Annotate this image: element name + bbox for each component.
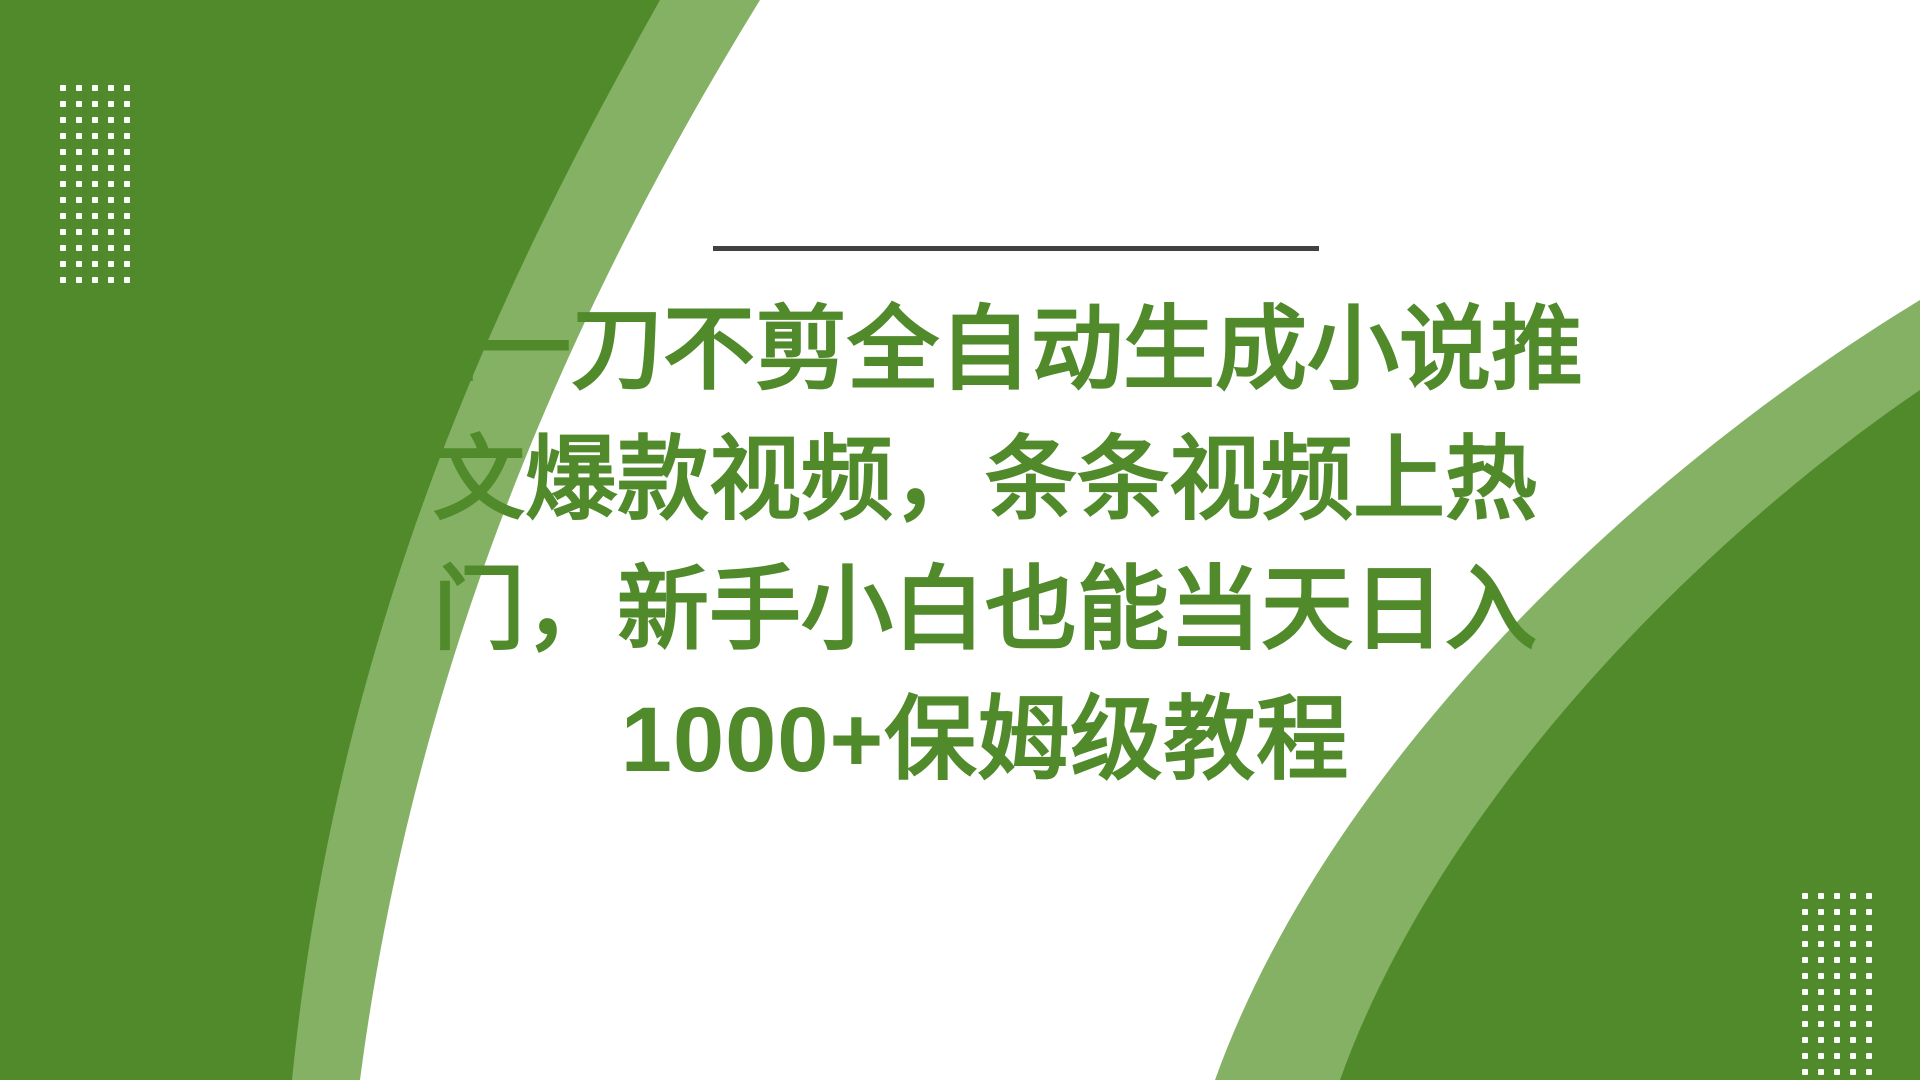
dot [92, 117, 98, 123]
dot [1850, 957, 1856, 963]
dot [92, 165, 98, 171]
dot [124, 117, 130, 123]
dot [60, 85, 66, 91]
dot [108, 133, 114, 139]
dot [1802, 957, 1808, 963]
dot [1850, 1069, 1856, 1075]
title-line-3: 门，新手小白也能当天日入 [240, 545, 1730, 675]
dot [1834, 1069, 1840, 1075]
dot [1802, 893, 1808, 899]
dot [124, 181, 130, 187]
dot [92, 149, 98, 155]
title-line-1: AI一刀不剪全自动生成小说推 [240, 285, 1730, 415]
dot [1818, 941, 1824, 947]
dot [60, 149, 66, 155]
dot [1834, 941, 1840, 947]
dot [1802, 1037, 1808, 1043]
dot [1818, 1021, 1824, 1027]
dot [60, 197, 66, 203]
dot [124, 245, 130, 251]
dot [108, 213, 114, 219]
dot-grid-left [60, 85, 140, 293]
dot [108, 261, 114, 267]
dot [60, 229, 66, 235]
dot [1818, 1005, 1824, 1011]
dot [60, 261, 66, 267]
dot [60, 133, 66, 139]
dot [1850, 941, 1856, 947]
dot [1834, 957, 1840, 963]
dot [1802, 973, 1808, 979]
title-line-2: 文爆款视频，条条视频上热 [240, 415, 1730, 545]
dot [1834, 1021, 1840, 1027]
dot [1866, 1037, 1872, 1043]
dot [92, 261, 98, 267]
dot [108, 117, 114, 123]
dot [1802, 941, 1808, 947]
dot [76, 117, 82, 123]
dot [1818, 1053, 1824, 1059]
dot [1818, 1037, 1824, 1043]
dot [1866, 1021, 1872, 1027]
dot [76, 165, 82, 171]
dot [76, 213, 82, 219]
dot [92, 197, 98, 203]
dot [1866, 957, 1872, 963]
dot [124, 213, 130, 219]
dot [1866, 941, 1872, 947]
dot [1802, 909, 1808, 915]
dot [1850, 1053, 1856, 1059]
dot [1818, 973, 1824, 979]
dot [1834, 1037, 1840, 1043]
dot [1850, 893, 1856, 899]
dot [60, 245, 66, 251]
dot [92, 245, 98, 251]
dot [1818, 989, 1824, 995]
page-title: AI一刀不剪全自动生成小说推 文爆款视频，条条视频上热 门，新手小白也能当天日入… [240, 285, 1730, 805]
dot [1834, 925, 1840, 931]
dot [1802, 1005, 1808, 1011]
dot [76, 197, 82, 203]
dot [1850, 1005, 1856, 1011]
dot [1818, 893, 1824, 899]
dot [1850, 989, 1856, 995]
dot [1850, 909, 1856, 915]
dot [92, 277, 98, 283]
dot [124, 165, 130, 171]
dot [92, 213, 98, 219]
dot [124, 277, 130, 283]
dot [108, 101, 114, 107]
dot [1850, 973, 1856, 979]
dot [124, 197, 130, 203]
dot [1802, 1069, 1808, 1075]
dot [76, 277, 82, 283]
dot [1818, 1069, 1824, 1075]
dot [76, 149, 82, 155]
dot [1834, 1005, 1840, 1011]
dot [1834, 989, 1840, 995]
dot [1834, 893, 1840, 899]
dot [108, 277, 114, 283]
dot [76, 101, 82, 107]
dot [76, 181, 82, 187]
dot [124, 229, 130, 235]
dot [1866, 1069, 1872, 1075]
dot [60, 101, 66, 107]
dot [1834, 973, 1840, 979]
dot [1866, 925, 1872, 931]
dot [124, 85, 130, 91]
dot [124, 149, 130, 155]
dot [92, 181, 98, 187]
dot [1866, 973, 1872, 979]
dot [92, 85, 98, 91]
dot [60, 181, 66, 187]
title-divider [713, 246, 1319, 251]
dot [1802, 1021, 1808, 1027]
dot [1850, 1037, 1856, 1043]
dot [1850, 925, 1856, 931]
dot [108, 165, 114, 171]
dot [108, 181, 114, 187]
dot [1802, 925, 1808, 931]
dot [1818, 925, 1824, 931]
dot [92, 229, 98, 235]
dot [60, 213, 66, 219]
dot [60, 165, 66, 171]
dot [76, 261, 82, 267]
dot-grid-right [1802, 893, 1882, 1080]
dot [1834, 909, 1840, 915]
dot [1866, 909, 1872, 915]
dot [1866, 989, 1872, 995]
dot [1802, 989, 1808, 995]
dot [76, 245, 82, 251]
dot [108, 245, 114, 251]
dot [1802, 1053, 1808, 1059]
dot [92, 101, 98, 107]
dot [76, 133, 82, 139]
dot [124, 101, 130, 107]
dot [108, 149, 114, 155]
dot [60, 117, 66, 123]
dot [108, 197, 114, 203]
dot [108, 229, 114, 235]
dot [60, 277, 66, 283]
dot [108, 85, 114, 91]
title-line-4: 1000+保姆级教程 [240, 675, 1730, 805]
poster-canvas: AI一刀不剪全自动生成小说推 文爆款视频，条条视频上热 门，新手小白也能当天日入… [0, 0, 1920, 1080]
dot [1866, 1005, 1872, 1011]
dot [1818, 957, 1824, 963]
dot [76, 229, 82, 235]
dot [1866, 893, 1872, 899]
dot [92, 133, 98, 139]
dot [124, 133, 130, 139]
dot [1818, 909, 1824, 915]
dot [1834, 1053, 1840, 1059]
dot [1850, 1021, 1856, 1027]
dot [76, 85, 82, 91]
dot [1866, 1053, 1872, 1059]
dot [124, 261, 130, 267]
